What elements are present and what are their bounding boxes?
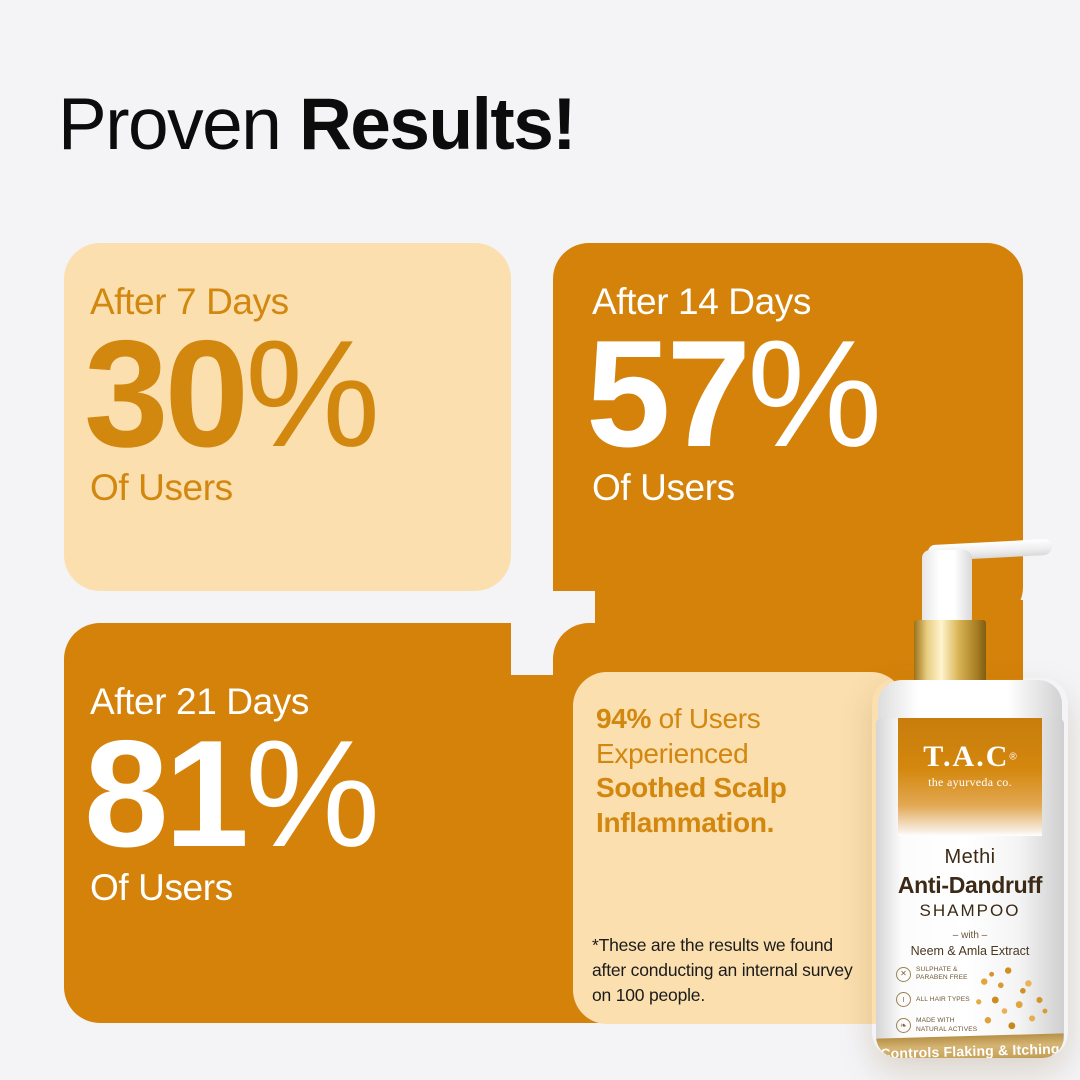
gold-collar xyxy=(914,620,986,686)
stat-day14-number: 57 xyxy=(586,309,747,479)
claim-line3: Soothed Scalp xyxy=(596,772,787,803)
brand-tagline: the ayurveda co. xyxy=(898,775,1042,790)
badge-label: ALL HAIR TYPES xyxy=(916,996,970,1004)
stat-day7-number: 30 xyxy=(84,309,245,479)
product-claim-banner-label: Controls Flaking & Itching xyxy=(880,1040,1060,1058)
hair-strands-icon: ≀ xyxy=(896,992,911,1007)
stat-day21: After 21 Days 81% Of Users xyxy=(90,681,378,909)
badge-natural-actives: ❧ MADE WITH NATURAL ACTIVES xyxy=(896,1017,984,1033)
stat-day7: After 7 Days 30% Of Users xyxy=(90,281,378,509)
stat-day7-percent-sign: % xyxy=(245,309,378,479)
product-claim-banner: Controls Flaking & Itching xyxy=(876,1033,1064,1058)
stat-day7-value: 30% xyxy=(84,325,378,465)
brand-block: T.A.C® the ayurveda co. xyxy=(898,740,1042,790)
product-name-line2: Anti-Dandruff xyxy=(886,872,1054,899)
product-with-label: – with – xyxy=(886,930,1054,941)
badge-all-hair-types: ≀ ALL HAIR TYPES xyxy=(896,992,984,1007)
claim-text: 94% of Users Experienced Soothed Scalp I… xyxy=(596,702,866,841)
droplet-cross-icon: ✕ xyxy=(896,967,911,982)
claim-line1-rest: of Users xyxy=(651,703,760,734)
stat-day14: After 14 Days 57% Of Users xyxy=(592,281,880,509)
stat-day21-value: 81% xyxy=(84,725,378,865)
stat-day14-value: 57% xyxy=(586,325,880,465)
claim-percent: 94% xyxy=(596,703,651,734)
stat-day21-percent-sign: % xyxy=(245,709,378,879)
product-name-line3: SHAMPOO xyxy=(886,901,1054,921)
product-name-block: Methi Anti-Dandruff SHAMPOO – with – Nee… xyxy=(886,846,1054,958)
registered-mark-icon: ® xyxy=(1009,752,1016,763)
infographic-canvas: Proven Results! After 7 Days 30% Of User… xyxy=(0,0,1080,1080)
page-title-bold: Results! xyxy=(299,84,575,165)
survey-footnote: *These are the results we found after co… xyxy=(592,933,862,1008)
claim-line4: Inflammation. xyxy=(596,807,774,838)
badge-label: MADE WITH NATURAL ACTIVES xyxy=(916,1017,984,1033)
brand-name-row: T.A.C® xyxy=(898,740,1042,774)
badge-label: SULPHATE & PARABEN FREE xyxy=(916,966,984,982)
badge-sulphate-paraben-free: ✕ SULPHATE & PARABEN FREE xyxy=(896,966,984,982)
stat-day21-number: 81 xyxy=(84,709,245,879)
page-title: Proven Results! xyxy=(58,88,575,161)
bottle-body: T.A.C® the ayurveda co. Methi Anti-Dandr… xyxy=(876,718,1064,1058)
product-name-line1: Methi xyxy=(886,846,1054,869)
brand-name: T.A.C xyxy=(923,740,1009,774)
claim-line2: Experienced xyxy=(596,738,748,769)
pump-neck xyxy=(922,550,972,624)
product-badges: ✕ SULPHATE & PARABEN FREE ≀ ALL HAIR TYP… xyxy=(896,966,984,1044)
product-bottle: T.A.C® the ayurveda co. Methi Anti-Dandr… xyxy=(866,528,1072,1060)
page-title-light: Proven xyxy=(58,84,299,165)
leaf-shield-icon: ❧ xyxy=(896,1018,911,1033)
stat-day14-percent-sign: % xyxy=(747,309,880,479)
